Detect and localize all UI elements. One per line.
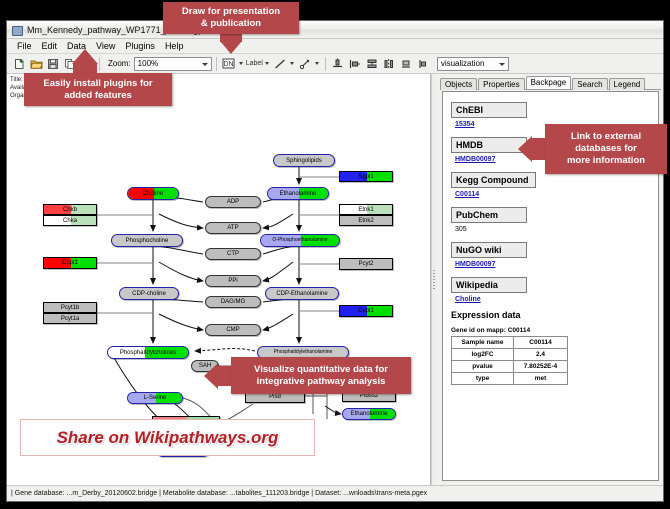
table-row: pvalue 7.80252E-4 <box>452 361 568 373</box>
links-callout: Link to external databases for more info… <box>545 124 667 174</box>
gene-label: Chpt1 <box>62 260 78 266</box>
metabolite-phosphatidylcholines[interactable]: Phosphatidylcholines <box>107 346 189 359</box>
wikipedia-heading: Wikipedia <box>451 277 527 293</box>
cell-value: met <box>514 373 568 385</box>
metabolite-l-serine-left[interactable]: L-Serine <box>127 392 183 404</box>
zoom-value: 100% <box>138 59 158 68</box>
cofactor-atp[interactable]: ATP <box>205 222 261 234</box>
metabolite-label: Ethanolamine <box>351 411 388 417</box>
gene-label: Chka <box>63 218 77 224</box>
metabolite-sphingolipids[interactable]: Sphingolipids <box>273 154 335 167</box>
gene-chkb[interactable]: Chkb <box>43 204 97 215</box>
metabolite-o-phosphoethanolamine[interactable]: O-Phosphoethanolamine <box>260 234 340 247</box>
metabolite-label: Phosphatidylcholines <box>120 350 176 356</box>
wikipedia-link[interactable]: Choline <box>455 296 650 303</box>
align-bottom-icon[interactable] <box>398 56 414 72</box>
align-top-icon[interactable] <box>330 56 346 72</box>
tab-objects[interactable]: Objects <box>440 78 477 90</box>
cell-value: C00114 <box>514 337 568 349</box>
metabolite-label: Phosphatidylethanolamine <box>274 350 333 355</box>
metabolite-label: CDP-choline <box>132 291 166 297</box>
chevron-down-icon[interactable] <box>290 62 294 65</box>
screenshot-root: Mm_Kennedy_pathway_WP1771_45176.gpml Fil… <box>0 0 670 509</box>
expression-data-title: Expression data <box>451 310 650 320</box>
cofactor-label: ADP <box>227 199 239 205</box>
gene-label: Pcyt1b <box>61 305 79 311</box>
cell-key: log2FC <box>452 349 514 361</box>
metabolite-cdp-ethanolamine[interactable]: CDP-Ethanolamine <box>265 287 339 300</box>
side-panel-tabs: Objects Properties Backpage Search Legen… <box>440 76 661 90</box>
tool-bar: Zoom: 100% DN Label <box>7 54 663 74</box>
plugins-callout-arrow <box>72 49 98 64</box>
gene-label: Etnk2 <box>358 218 373 224</box>
align-left-icon[interactable] <box>347 56 363 72</box>
plugins-callout-text: Easily install plugins for added feature… <box>43 78 152 102</box>
gene-chpt1[interactable]: Chpt1 <box>43 257 97 269</box>
title-bar: Mm_Kennedy_pathway_WP1771_45176.gpml <box>7 21 663 39</box>
open-folder-icon[interactable] <box>28 56 44 72</box>
metabolite-label: Phosphocholine <box>126 238 169 244</box>
gene-label: Pisd <box>269 394 281 400</box>
plugins-callout: Easily install plugins for added feature… <box>24 73 172 106</box>
metabolite-label: CDP-Ethanolamine <box>276 291 327 297</box>
cell-key: type <box>452 373 514 385</box>
menu-bar: File Edit Data View Plugins Help <box>7 39 663 54</box>
gene-label: Cept1 <box>358 308 374 314</box>
label-button[interactable]: Label <box>246 60 263 67</box>
cell-value: 7.80252E-4 <box>514 361 568 373</box>
chevron-down-icon <box>499 63 505 66</box>
cell-value: 2.4 <box>514 349 568 361</box>
metabolite-label: O-Phosphoethanolamine <box>272 238 327 243</box>
pubchem-heading: PubChem <box>451 207 527 223</box>
gene-cept1[interactable]: Cept1 <box>339 305 393 317</box>
cofactor-label: ATP <box>227 225 238 231</box>
status-text: | Gene database: ...m_Derby_20120602.bri… <box>7 490 427 497</box>
cofactor-label: CTP <box>227 251 239 257</box>
cofactor-adp[interactable]: ADP <box>205 196 261 208</box>
menu-help[interactable]: Help <box>160 41 189 51</box>
metabolite-cdp-choline[interactable]: CDP-choline <box>119 287 179 300</box>
cofactor-label: CMP <box>226 327 239 333</box>
tab-legend[interactable]: Legend <box>609 78 646 90</box>
nugo-wiki-link[interactable]: HMDB00097 <box>455 261 650 268</box>
align-right-icon[interactable] <box>415 56 431 72</box>
cofactor-ppi[interactable]: PPi <box>205 275 261 287</box>
expression-table: Sample name C00114 log2FC 2.4 pvalue 7.8… <box>451 336 568 385</box>
links-callout-text: Link to external databases for more info… <box>567 131 645 167</box>
zoom-label: Zoom: <box>108 59 131 68</box>
gene-etnk2[interactable]: Etnk2 <box>339 215 393 226</box>
metabolite-ethanolamine[interactable]: Ethanolamine <box>267 187 329 200</box>
zoom-combobox[interactable]: 100% <box>134 57 212 71</box>
gene-pcyt1a[interactable]: Pcyt1a <box>43 313 97 324</box>
links-callout-arrow <box>518 136 532 162</box>
line-icon[interactable] <box>272 56 288 72</box>
table-row: Sample name C00114 <box>452 337 568 349</box>
gene-etnk1[interactable]: Etnk1 <box>339 204 393 215</box>
chevron-down-icon <box>202 63 208 66</box>
cell-key: pvalue <box>452 361 514 373</box>
metabolite-choline-top[interactable]: Choline <box>127 187 179 200</box>
gene-id-line: Gene id on mapp: C00114 <box>451 327 650 334</box>
cofactor-label: PPi <box>228 278 237 284</box>
gene-label: Pcyt2 <box>358 261 373 267</box>
visualize-callout-arrow <box>204 363 218 389</box>
cofactor-label: DAG/MG <box>221 299 245 305</box>
distribute-icon[interactable] <box>381 56 397 72</box>
cell-key: Sample name <box>452 337 514 349</box>
metabolite-label: Choline <box>143 191 163 197</box>
metabolite-label: Sphingolipids <box>286 158 322 164</box>
visualize-callout: Visualize quantitative data for integrat… <box>231 357 411 394</box>
menu-plugins[interactable]: Plugins <box>120 41 160 51</box>
toolbar-separator-3 <box>325 57 326 71</box>
share-callout-text: Share on Wikipathways.org <box>57 428 279 448</box>
draw-callout: Draw for presentation & publication <box>163 2 299 34</box>
gene-pcyt1b[interactable]: Pcyt1b <box>43 302 97 313</box>
tab-search[interactable]: Search <box>572 78 607 90</box>
gene-label: Etnk1 <box>358 207 373 213</box>
tab-properties[interactable]: Properties <box>478 78 524 90</box>
status-bar: | Gene database: ...m_Derby_20120602.bri… <box>7 485 663 501</box>
chebi-heading: ChEBI <box>451 102 527 118</box>
svg-text:DN: DN <box>224 61 234 68</box>
draw-callout-arrow <box>220 41 242 54</box>
visualize-callout-text: Visualize quantitative data for integrat… <box>254 364 388 388</box>
gene-pcyt2[interactable]: Pcyt2 <box>339 258 393 270</box>
save-icon[interactable] <box>45 56 61 72</box>
menu-edit[interactable]: Edit <box>37 41 63 51</box>
gene-label: Chkb <box>63 207 77 213</box>
metabolite-ethanolamine-right[interactable]: Ethanolamine <box>342 408 396 420</box>
table-row: type met <box>452 373 568 385</box>
toolbar-separator-1 <box>99 57 100 71</box>
cofactor-cmp[interactable]: CMP <box>205 324 261 336</box>
tab-backpage[interactable]: Backpage <box>526 76 572 89</box>
gene-label: Pcyt1a <box>61 316 79 322</box>
draw-callout-text: Draw for presentation & publication <box>182 6 280 30</box>
chevron-down-icon[interactable] <box>315 62 319 65</box>
stack-icon[interactable] <box>364 56 380 72</box>
cofactor-ctp[interactable]: CTP <box>205 248 261 260</box>
table-row: log2FC 2.4 <box>452 349 568 361</box>
gene-label: Sgpl1 <box>358 174 373 180</box>
toolbar-separator-2 <box>216 57 217 71</box>
metabolite-label: Ethanolamine <box>280 191 317 197</box>
gene-chka[interactable]: Chka <box>43 215 97 226</box>
hmdb-heading: HMDB <box>451 137 527 153</box>
visualization-value: visualization <box>441 59 485 68</box>
data-node-icon[interactable]: DN <box>221 56 237 72</box>
new-file-icon[interactable] <box>11 56 27 72</box>
metabolite-label: L-Serine <box>144 395 167 401</box>
chevron-down-icon[interactable] <box>239 62 243 65</box>
metabolite-phosphocholine[interactable]: Phosphocholine <box>111 234 183 247</box>
menu-file[interactable]: File <box>12 41 37 51</box>
kegg-compound-link[interactable]: C00114 <box>455 191 650 198</box>
visualization-combobox[interactable]: visualization <box>437 57 509 71</box>
kegg-compound-heading: Kegg Compound <box>451 172 536 188</box>
cofactor-dagmg[interactable]: DAG/MG <box>205 296 261 308</box>
pubchem-value: 305 <box>455 226 650 233</box>
anchor-icon[interactable] <box>297 56 313 72</box>
nugo-wiki-heading: NuGO wiki <box>451 242 527 258</box>
app-icon <box>11 24 23 36</box>
chevron-down-icon[interactable] <box>265 62 269 65</box>
gene-sgpl1[interactable]: Sgpl1 <box>339 171 393 182</box>
share-callout: Share on Wikipathways.org <box>20 419 315 456</box>
